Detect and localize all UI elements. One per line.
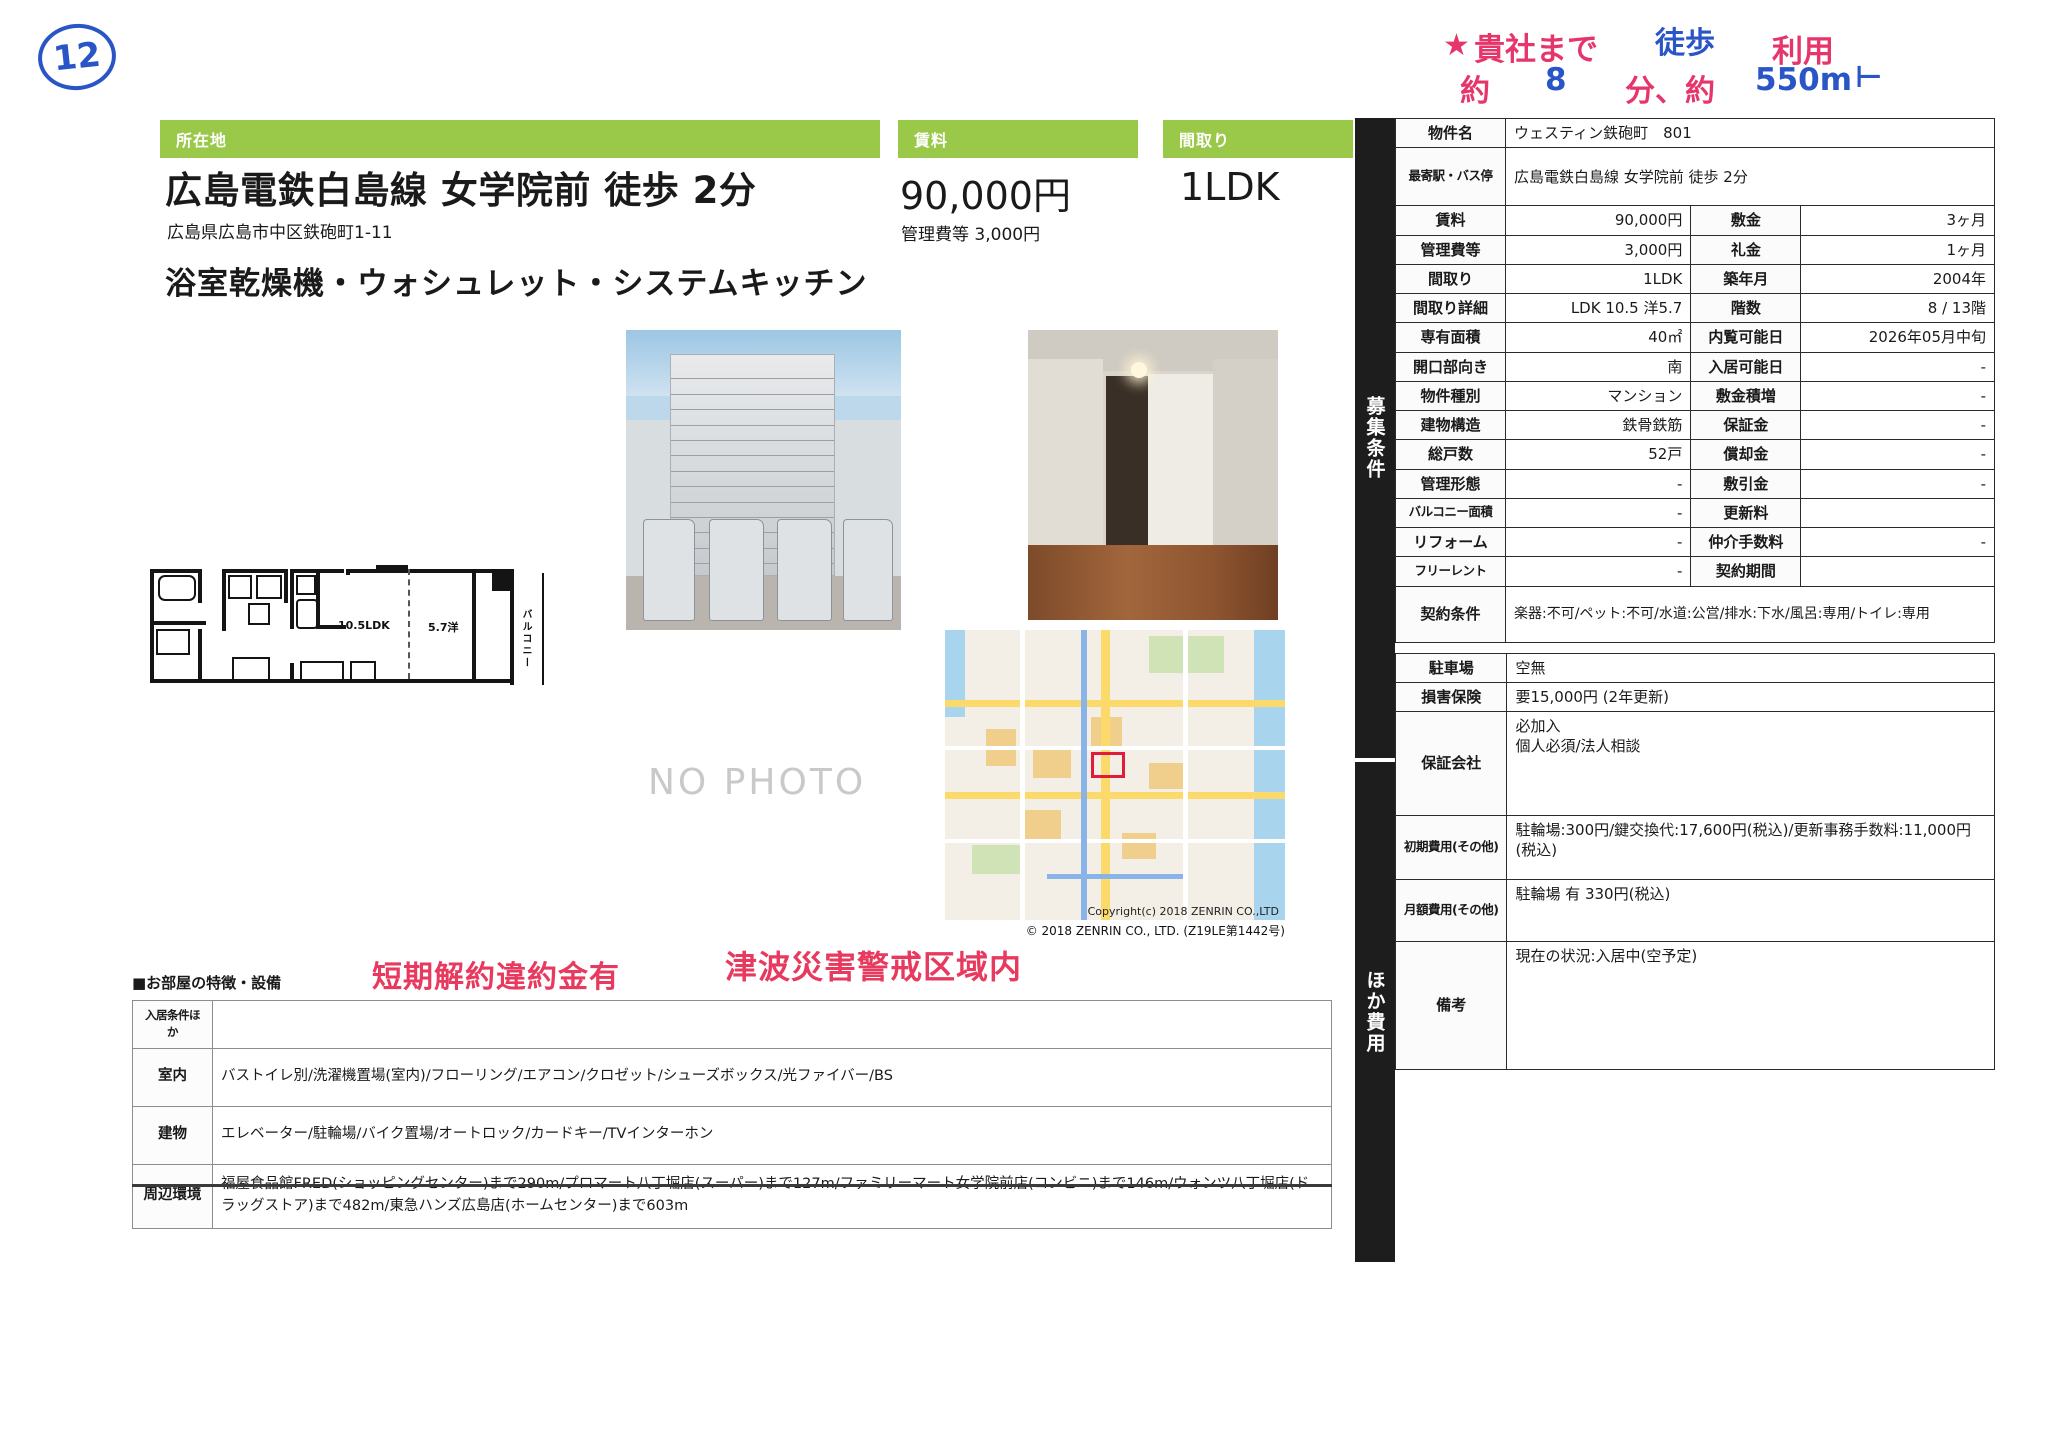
table-row-contract-conditions: 契約条件 楽器:不可/ペット:不可/水道:公営/排水:下水/風呂:専用/トイレ:…	[1396, 586, 1995, 642]
map-road	[1183, 630, 1188, 920]
management-fee: 管理費等 3,000円	[901, 220, 1040, 245]
spec-value-2: -	[1801, 469, 1995, 498]
spec-value: 52戸	[1506, 440, 1691, 469]
layout-value: 1LDK	[1180, 165, 1280, 209]
label-nearest-station: 最寄駅・バス停	[1396, 148, 1506, 206]
spec-label-2: 更新料	[1691, 498, 1801, 527]
document-page: 12 ★ 貴社まで 徒歩 利用 約 8 分、約 550m ⊢ 所在地 賃料 間取…	[0, 0, 2056, 1454]
spec-label-2: 築年月	[1691, 264, 1801, 293]
spec-value-2: 3ヶ月	[1801, 206, 1995, 235]
handwritten-approx-1: 約	[1460, 66, 1490, 110]
plan-closet	[228, 575, 252, 599]
spec-value: -	[1506, 528, 1691, 557]
features-table-title: ■お部屋の特徴・設備	[132, 972, 281, 993]
value-remarks: 現在の状況:入居中(空予定)	[1507, 942, 1995, 1070]
map-credit-small: Copyright(c) 2018 ZENRIN CO.,LTD	[945, 905, 1285, 918]
photo-wall-right	[1213, 359, 1278, 550]
spec-label: 賃料	[1396, 206, 1506, 235]
spec-value-2: -	[1801, 528, 1995, 557]
plan-room-label: 5.7洋	[428, 619, 459, 635]
short-term-penalty-stamp: 短期解約違約金有	[372, 952, 620, 996]
plan-cl-1	[300, 661, 344, 681]
photo-car	[643, 519, 695, 621]
table-row-remarks: 備考 現在の状況:入居中(空予定)	[1396, 942, 1995, 1070]
spec-value: 40㎡	[1506, 323, 1691, 352]
spec-value-2	[1801, 557, 1995, 586]
table-row: 建物エレベーター/駐輪場/バイク置場/オートロック/カードキー/TVインターホン	[133, 1106, 1332, 1164]
map-property-marker	[1091, 752, 1125, 778]
photo-back-wall	[1148, 374, 1213, 545]
spec-value-2: 2026年05月中旬	[1801, 323, 1995, 352]
spec-label-2: 敷金積増	[1691, 381, 1801, 410]
feature-value: エレベーター/駐輪場/バイク置場/オートロック/カードキー/TVインターホン	[213, 1106, 1332, 1164]
feature-value: 福屋食品館FRED(ショッピングセンター)まで290m/プロマート八丁堀店(スー…	[213, 1164, 1332, 1228]
spec-label: 間取り詳細	[1396, 294, 1506, 323]
spec-label-2: 階数	[1691, 294, 1801, 323]
plan-washroom	[156, 629, 190, 655]
feature-value: バストイレ別/洗濯機置場(室内)/フローリング/エアコン/クロゼット/シューズボ…	[213, 1048, 1332, 1106]
tsunami-warning-stamp: 津波災害警戒区域内	[725, 942, 1022, 988]
feature-value	[213, 1001, 1332, 1049]
table-row-initial-cost: 初期費用(その他) 駐輪場:300円/鍵交換代:17,600円(税込)/更新事務…	[1396, 816, 1995, 880]
plan-balcony-label: バルコニー	[518, 609, 533, 669]
photo-car	[709, 519, 764, 621]
photo-wood-floor	[1028, 545, 1278, 620]
location-map: Copyright(c) 2018 ZENRIN CO.,LTD	[945, 630, 1285, 920]
label-guarantor: 保証会社	[1396, 712, 1507, 816]
plan-bath	[158, 575, 196, 601]
spec-value: 90,000円	[1506, 206, 1691, 235]
table-row-guarantor: 保証会社 必加入 個人必須/法人相談	[1396, 712, 1995, 816]
features-headline: 浴室乾燥機・ウォシュレット・システムキッチン	[165, 258, 867, 303]
table-row-nearest-station: 最寄駅・バス停 広島電鉄白島線 女学院前 徒歩 2分	[1396, 148, 1995, 206]
map-block	[1020, 810, 1061, 839]
plan-toilet	[232, 657, 270, 683]
label-contract-conditions: 契約条件	[1396, 586, 1506, 642]
map-road	[1020, 630, 1025, 920]
no-photo-placeholder: NO PHOTO	[648, 762, 866, 803]
spec-value-2	[1801, 498, 1995, 527]
label-property-name: 物件名	[1396, 119, 1506, 148]
value-contract-conditions: 楽器:不可/ペット:不可/水道:公営/排水:下水/風呂:専用/トイレ:専用	[1506, 586, 1995, 642]
value-nearest-station: 広島電鉄白島線 女学院前 徒歩 2分	[1506, 148, 1995, 206]
plan-stove	[296, 575, 316, 595]
plan-ldk-label: 10.5LDK	[338, 619, 390, 632]
floor-plan: 10.5LDK 5.7洋 バルコニー	[150, 565, 550, 745]
label-initial-cost: 初期費用(その他)	[1396, 816, 1507, 880]
handwritten-star-icon: ★	[1443, 28, 1470, 63]
table-row: フリーレント-契約期間	[1396, 557, 1995, 586]
plan-kitchen-sink	[296, 599, 318, 629]
spec-label-2: 敷引金	[1691, 469, 1801, 498]
label-remarks: 備考	[1396, 942, 1507, 1070]
value-insurance: 要15,000円 (2年更新)	[1507, 682, 1995, 711]
feature-label: 建物	[133, 1106, 213, 1164]
spec-value-2: -	[1801, 411, 1995, 440]
feature-label: 室内	[133, 1048, 213, 1106]
table-row-insurance: 損害保険 要15,000円 (2年更新)	[1396, 682, 1995, 711]
map-block	[1149, 763, 1183, 789]
value-initial-cost: 駐輪場:300円/鍵交換代:17,600円(税込)/更新事務手数料:11,000…	[1507, 816, 1995, 880]
value-parking: 空無	[1507, 653, 1995, 682]
spec-label: 管理形態	[1396, 469, 1506, 498]
spec-value: LDK 10.5 洋5.7	[1506, 294, 1691, 323]
spec-label-2: 敷金	[1691, 206, 1801, 235]
table-row: 室内バストイレ別/洗濯機置場(室内)/フローリング/エアコン/クロゼット/シュー…	[133, 1048, 1332, 1106]
map-block	[1033, 746, 1070, 778]
spec-label-2: 礼金	[1691, 235, 1801, 264]
photo-car	[777, 519, 832, 621]
table-row: 物件種別マンション敷金積増-	[1396, 381, 1995, 410]
spec-value-2: 2004年	[1801, 264, 1995, 293]
spec-value-2: 8 / 13階	[1801, 294, 1995, 323]
handwritten-distance: 550m	[1755, 62, 1852, 98]
spec-value: -	[1506, 557, 1691, 586]
table-row: 管理費等3,000円礼金1ヶ月	[1396, 235, 1995, 264]
features-row-group: 入居条件ほか室内バストイレ別/洗濯機置場(室内)/フローリング/エアコン/クロゼ…	[133, 1001, 1332, 1229]
spec-value: 3,000円	[1506, 235, 1691, 264]
spec-label-2: 内覧可能日	[1691, 323, 1801, 352]
table-row: 間取り1LDK築年月2004年	[1396, 264, 1995, 293]
location-chip: 所在地	[160, 120, 880, 158]
value-monthly-cost: 駐輪場 有 330円(税込)	[1507, 880, 1995, 942]
spec-label: 物件種別	[1396, 381, 1506, 410]
table-row-monthly-cost: 月額費用(その他) 駐輪場 有 330円(税込)	[1396, 880, 1995, 942]
label-monthly-cost: 月額費用(その他)	[1396, 880, 1507, 942]
spec-value-2: -	[1801, 381, 1995, 410]
building-photo	[626, 330, 901, 630]
spec-label: 専有面積	[1396, 323, 1506, 352]
map-road	[945, 839, 1285, 843]
table-row: 管理形態-敷引金-	[1396, 469, 1995, 498]
page-number-annotation: 12	[35, 20, 119, 94]
table-row: リフォーム-仲介手数料-	[1396, 528, 1995, 557]
spec-label-2: 契約期間	[1691, 557, 1801, 586]
address-line: 広島県広島市中区鉄砲町1-11	[167, 218, 393, 243]
spec-value-2: -	[1801, 352, 1995, 381]
handwritten-distance-tail: ⊢	[1855, 60, 1882, 95]
map-road	[945, 746, 1285, 750]
spec-value: マンション	[1506, 381, 1691, 410]
spec-label: フリーレント	[1396, 557, 1506, 586]
rent-chip: 賃料	[898, 120, 1138, 158]
spec-label-2: 仲介手数料	[1691, 528, 1801, 557]
features-bottom-rule	[132, 1184, 1332, 1187]
specification-table: 募集条件 ほか費用 物件名 ウェスティン鉄砲町 801 最寄駅・バス停 広島電鉄…	[1355, 118, 1995, 1070]
handwritten-minutes-number: 8	[1545, 62, 1567, 98]
table-row: 周辺環境福屋食品館FRED(ショッピングセンター)まで290m/プロマート八丁堀…	[133, 1164, 1332, 1228]
table-row: 開口部向き南入居可能日-	[1396, 352, 1995, 381]
spec-label: 総戸数	[1396, 440, 1506, 469]
layout-chip: 間取り	[1163, 120, 1353, 158]
feature-label: 入居条件ほか	[133, 1001, 213, 1049]
table-row-property-name: 物件名 ウェスティン鉄砲町 801	[1396, 119, 1995, 148]
section-label-recruit: 募集条件	[1355, 118, 1395, 758]
label-insurance: 損害保険	[1396, 682, 1507, 711]
table-row: 専有面積40㎡内覧可能日2026年05月中旬	[1396, 323, 1995, 352]
photo-car	[843, 519, 893, 621]
table-row-parking: 駐車場 空無	[1396, 653, 1995, 682]
handwritten-walk-text: 徒歩	[1655, 18, 1715, 62]
spec-value: -	[1506, 498, 1691, 527]
spec-label-2: 入居可能日	[1691, 352, 1801, 381]
map-block	[1122, 833, 1156, 859]
table-row: バルコニー面積-更新料	[1396, 498, 1995, 527]
spec-value: -	[1506, 469, 1691, 498]
map-main-road	[945, 792, 1285, 799]
spec-label: 間取り	[1396, 264, 1506, 293]
spec-label: 開口部向き	[1396, 352, 1506, 381]
spec-value-2: -	[1801, 440, 1995, 469]
spec-label: 建物構造	[1396, 411, 1506, 440]
feature-label: 周辺環境	[133, 1164, 213, 1228]
photo-doorway	[1106, 376, 1149, 544]
plan-sink	[248, 603, 270, 625]
table-row: 入居条件ほか	[133, 1001, 1332, 1049]
spec-value: 1LDK	[1506, 264, 1691, 293]
value-guarantor: 必加入 個人必須/法人相談	[1507, 712, 1995, 816]
spec-value-2: 1ヶ月	[1801, 235, 1995, 264]
station-line: 広島電鉄白島線 女学院前 徒歩 2分	[165, 160, 756, 214]
map-credit: © 2018 ZENRIN CO., LTD. (Z19LE第1442号)	[945, 922, 1285, 939]
table-row: 建物構造鉄骨鉄筋保証金-	[1396, 411, 1995, 440]
photo-ceiling-light	[1131, 362, 1147, 378]
table-row: 賃料90,000円敷金3ヶ月	[1396, 206, 1995, 235]
rent-amount: 90,000円	[900, 165, 1071, 220]
label-parking: 駐車場	[1396, 653, 1507, 682]
spec-value: 南	[1506, 352, 1691, 381]
map-rail-line	[1047, 874, 1183, 879]
handwritten-company-text: 貴社まで	[1474, 24, 1598, 69]
map-green-area	[972, 845, 1020, 874]
table-row: 総戸数52戸償却金-	[1396, 440, 1995, 469]
photo-wall-left	[1028, 359, 1103, 545]
features-table: 入居条件ほか室内バストイレ別/洗濯機置場(室内)/フローリング/エアコン/クロゼ…	[132, 1000, 1332, 1229]
map-river	[1254, 630, 1285, 920]
map-main-road	[945, 700, 1285, 707]
interior-photo	[1028, 330, 1278, 620]
spec-row-group: 賃料90,000円敷金3ヶ月管理費等3,000円礼金1ヶ月間取り1LDK築年月2…	[1396, 206, 1995, 586]
table-row: 間取り詳細LDK 10.5 洋5.7階数8 / 13階	[1396, 294, 1995, 323]
spec-label-2: 償却金	[1691, 440, 1801, 469]
spec-label: リフォーム	[1396, 528, 1506, 557]
spec-label: 管理費等	[1396, 235, 1506, 264]
spec-label: バルコニー面積	[1396, 498, 1506, 527]
section-label-other: ほか費用	[1355, 762, 1395, 1262]
value-property-name: ウェスティン鉄砲町 801	[1506, 119, 1995, 148]
plan-cl-2	[350, 661, 376, 681]
plan-shoe-box	[256, 575, 282, 599]
spec-value: 鉄骨鉄筋	[1506, 411, 1691, 440]
handwritten-minutes-approx: 分、約	[1625, 66, 1715, 110]
spec-label-2: 保証金	[1691, 411, 1801, 440]
